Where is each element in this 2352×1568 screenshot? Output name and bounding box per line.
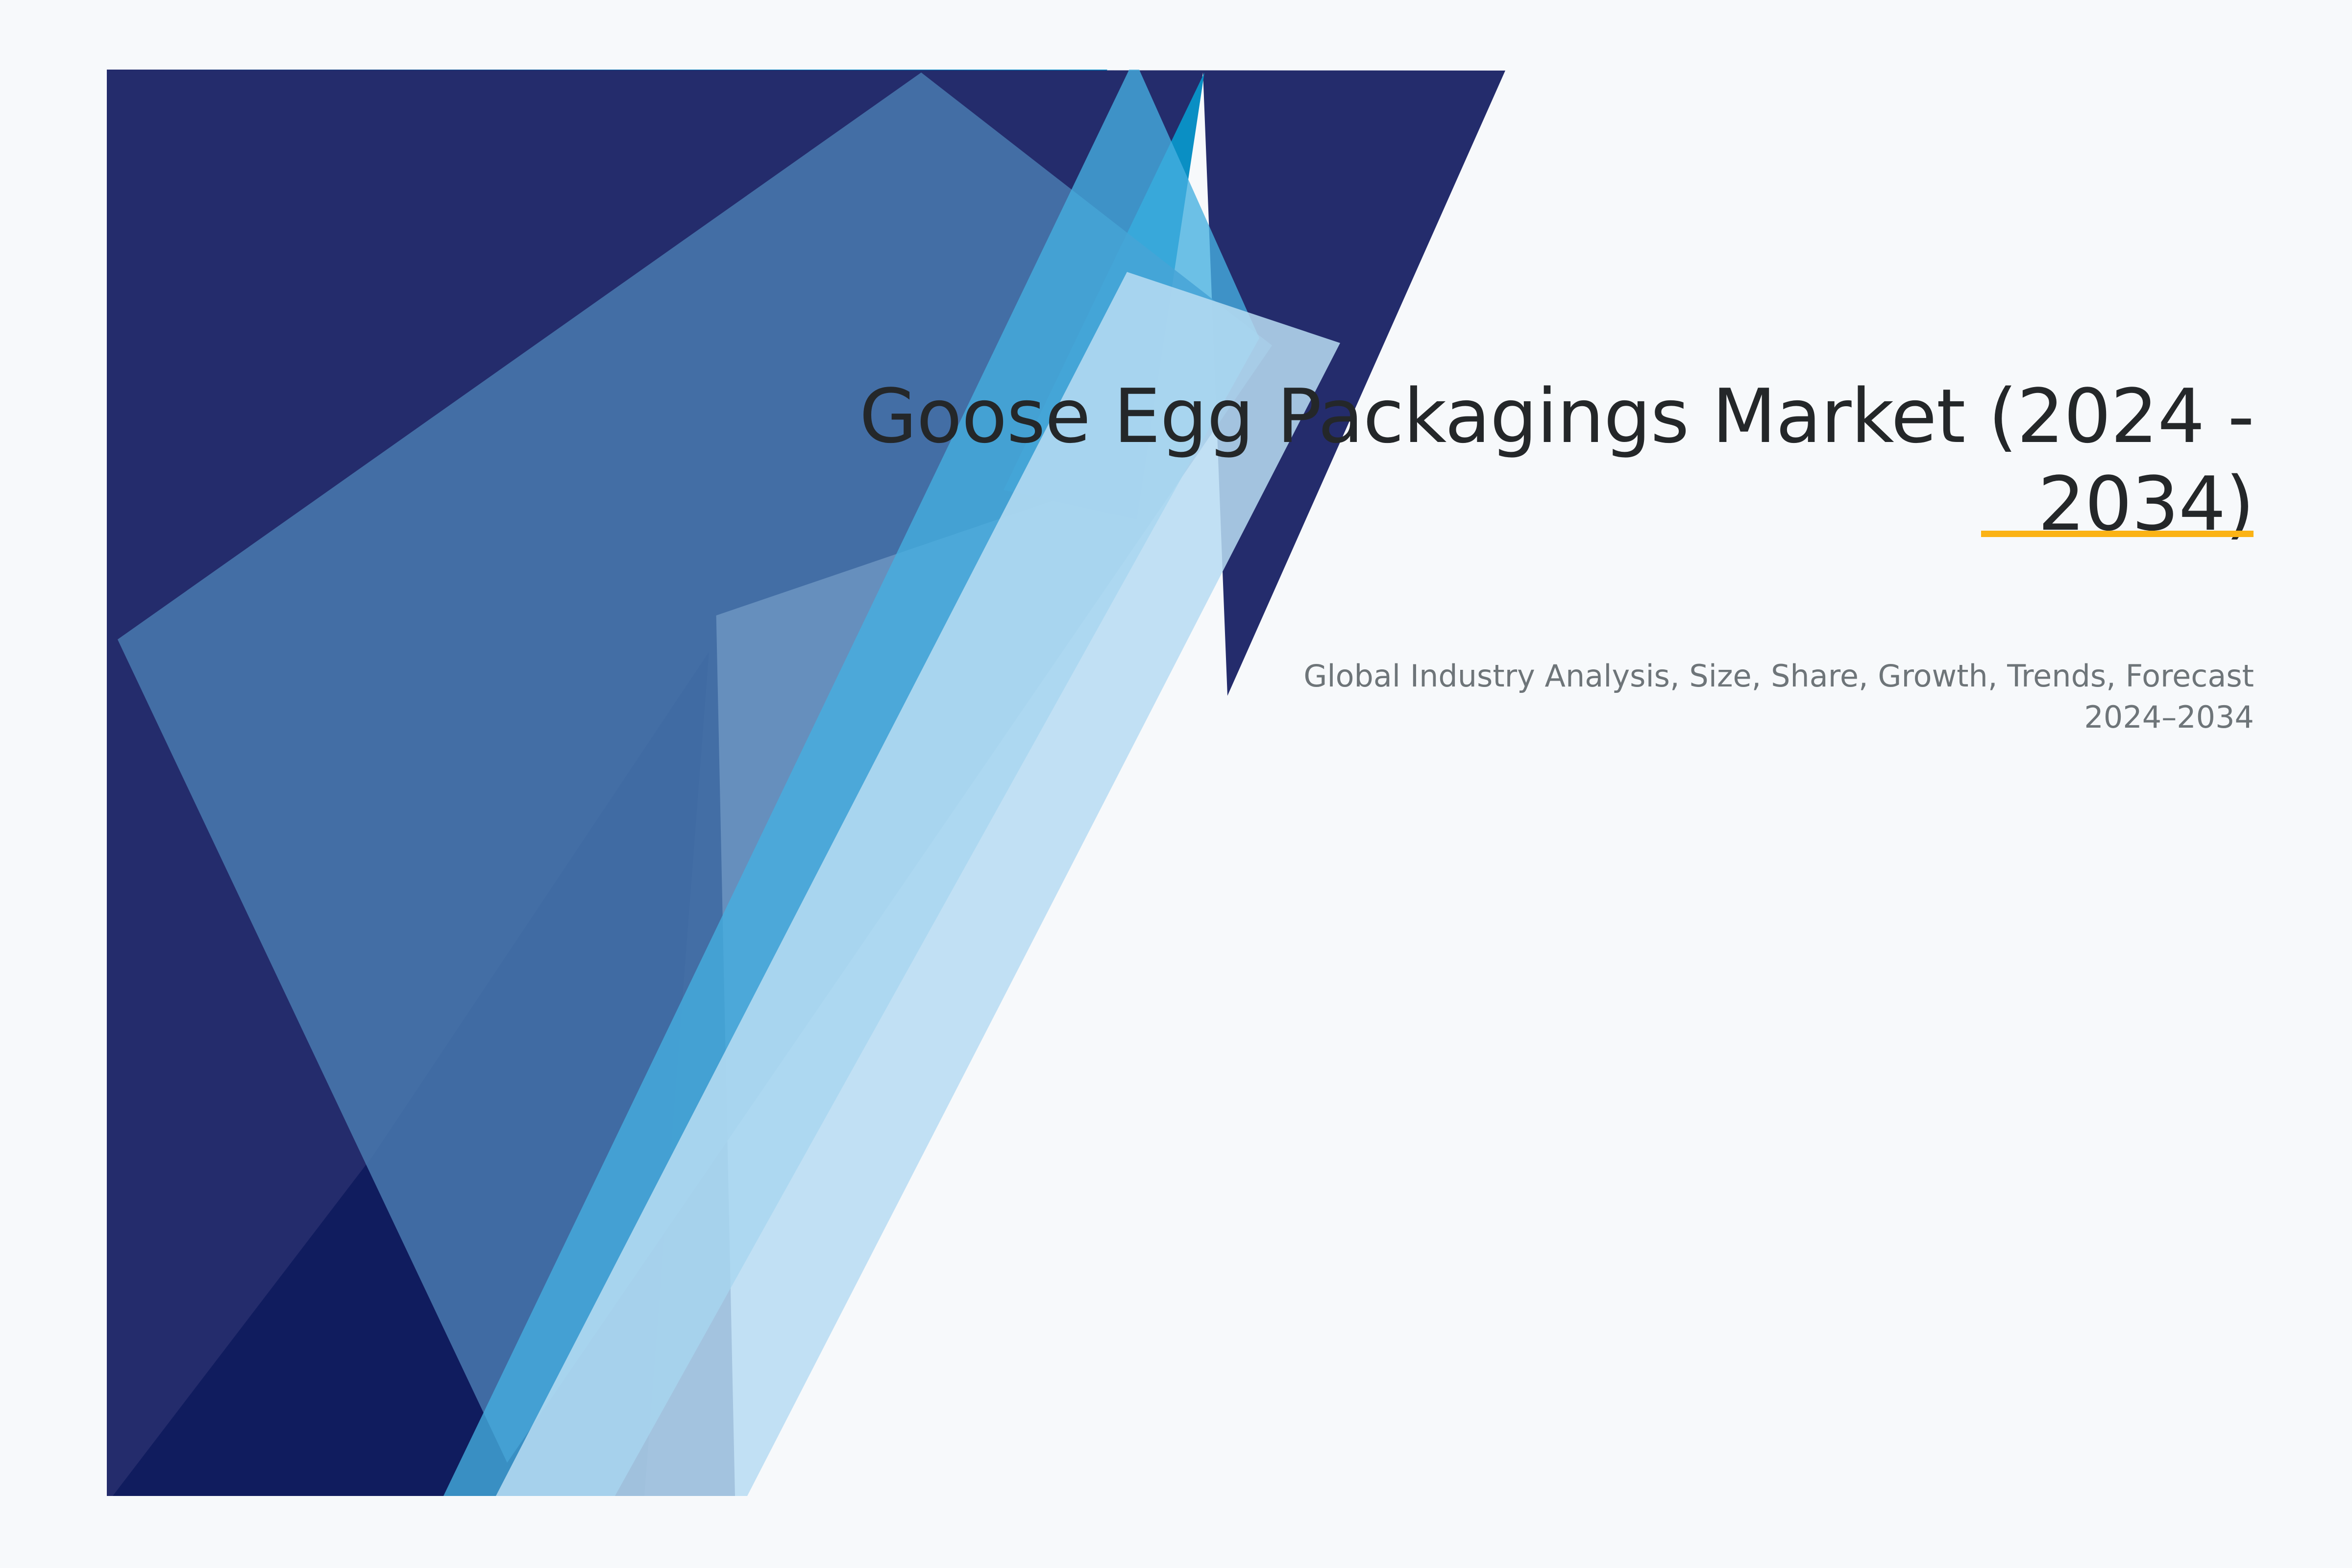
shape-sky-band [443, 59, 1259, 1496]
page-title: Goose Egg Packagings Market (2024 - 2034… [833, 372, 2254, 548]
shape-navy-left-column [107, 578, 735, 1496]
shape-deep-navy-spike [113, 652, 709, 1496]
page-subtitle: Global Industry Analysis, Size, Share, G… [1274, 656, 2254, 738]
shape-cyan-field [107, 70, 1107, 1088]
cover-artwork [0, 0, 2352, 1568]
title-block: Goose Egg Packagings Market (2024 - 2034… [833, 372, 2254, 548]
title-accent-underline [1981, 531, 2254, 537]
shape-slate-quad [118, 73, 1272, 1463]
